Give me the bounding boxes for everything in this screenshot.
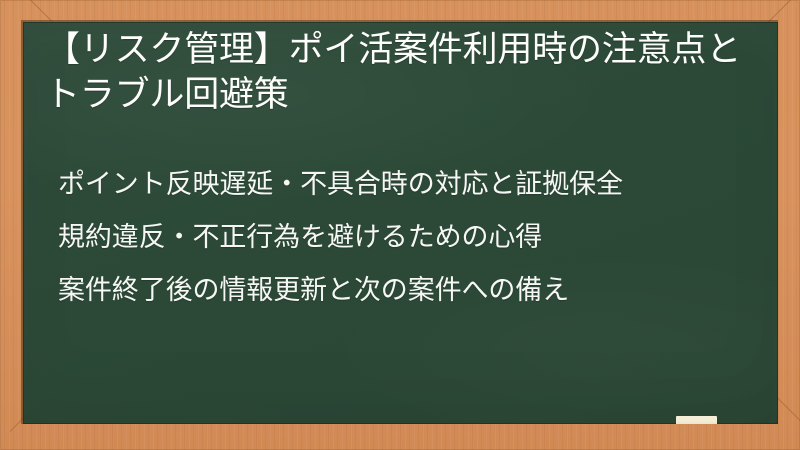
list-item: ポイント反映遅延・不具合時の対応と証拠保全 — [58, 158, 758, 211]
slide-bullet-list: ポイント反映遅延・不具合時の対応と証拠保全 規約違反・不正行為を避けるための心得… — [58, 158, 758, 317]
slide-title: 【リスク管理】ポイ活案件利用時の注意点とトラブル回避策 — [45, 27, 757, 117]
blackboard-slide: 【リスク管理】ポイ活案件利用時の注意点とトラブル回避策 ポイント反映遅延・不具合… — [0, 0, 800, 450]
list-item: 案件終了後の情報更新と次の案件への備え — [58, 264, 758, 317]
chalkboard-content: 【リスク管理】ポイ活案件利用時の注意点とトラブル回避策 ポイント反映遅延・不具合… — [23, 22, 778, 424]
list-item: 規約違反・不正行為を避けるための心得 — [58, 211, 758, 264]
chalk-eraser-icon — [676, 416, 717, 424]
chalkboard-surface: 【リスク管理】ポイ活案件利用時の注意点とトラブル回避策 ポイント反映遅延・不具合… — [23, 22, 778, 424]
